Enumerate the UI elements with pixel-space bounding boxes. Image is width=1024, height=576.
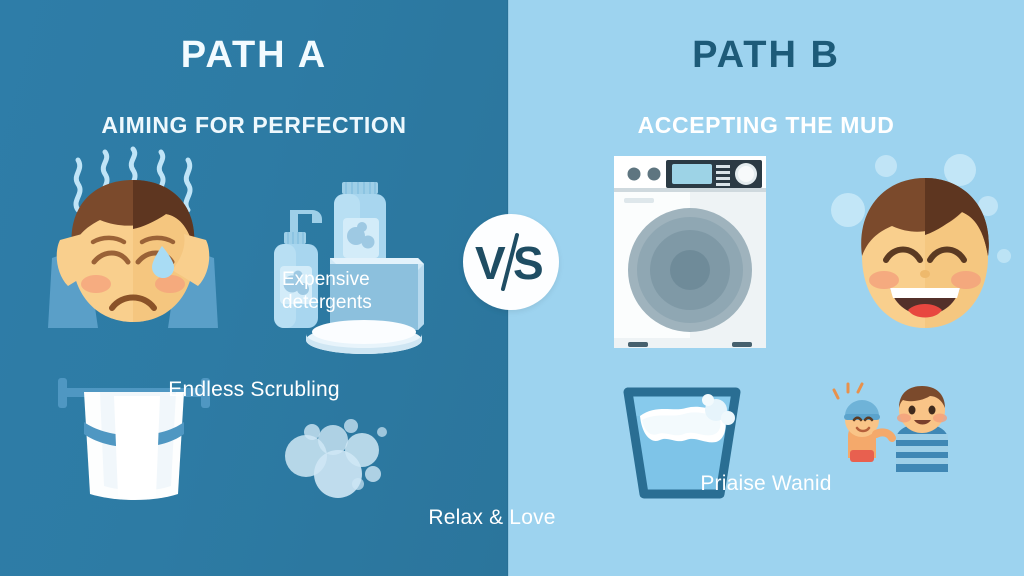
path-a-panel: PATH A AIMING FOR PERFECTION	[0, 0, 508, 576]
path-b-panel: PATH B ACCEPTING THE MUD	[508, 0, 1024, 576]
cheek-blush	[81, 275, 111, 293]
baby-hat	[845, 400, 879, 416]
cheek-blush	[897, 414, 911, 423]
parent-and-baby-illustration	[824, 384, 984, 481]
praise-caption: Priaise Wanid	[508, 472, 1024, 496]
machine-foot	[628, 342, 648, 347]
joy-lines	[834, 384, 862, 398]
endless-scrubbing-caption: Endless Scrubling	[0, 378, 508, 402]
cheek-blush	[869, 271, 899, 289]
detergent-label-text: Expensive detergents	[282, 268, 372, 314]
comparison-infographic: PATH A AIMING FOR PERFECTION	[0, 0, 1024, 576]
path-a-subtitle: AIMING FOR PERFECTION	[0, 114, 508, 137]
nose-shape	[920, 270, 930, 278]
pump-nozzle	[294, 210, 322, 223]
path-a-title: PATH A	[0, 36, 508, 74]
detergent-illustration: Expensive detergents	[248, 180, 468, 357]
machine-button	[628, 168, 641, 181]
parent-figure	[896, 386, 948, 472]
baby-outfit	[850, 450, 874, 462]
baby-arm	[876, 432, 892, 438]
stressed-face-illustration	[38, 150, 228, 345]
versus-letter-v: V	[475, 237, 506, 289]
baby-figure	[834, 384, 892, 462]
teeth-shape	[890, 288, 960, 298]
soap-bubbles-illustration	[276, 404, 406, 499]
shirt-stripe	[896, 434, 948, 464]
versus-badge-mark: V S	[473, 233, 549, 291]
relax-and-love-caption: Relax & Love	[392, 506, 592, 530]
versus-badge: V S	[463, 214, 559, 310]
happy-face-illustration	[830, 152, 1020, 347]
path-b-subtitle: ACCEPTING THE MUD	[508, 114, 1024, 137]
washing-machine-illustration	[604, 152, 776, 363]
display-screen	[672, 164, 712, 184]
versus-letter-s: S	[513, 237, 544, 289]
bottle-cap	[342, 182, 378, 194]
path-b-title: PATH B	[508, 36, 1024, 74]
bubble-shape	[285, 419, 387, 498]
